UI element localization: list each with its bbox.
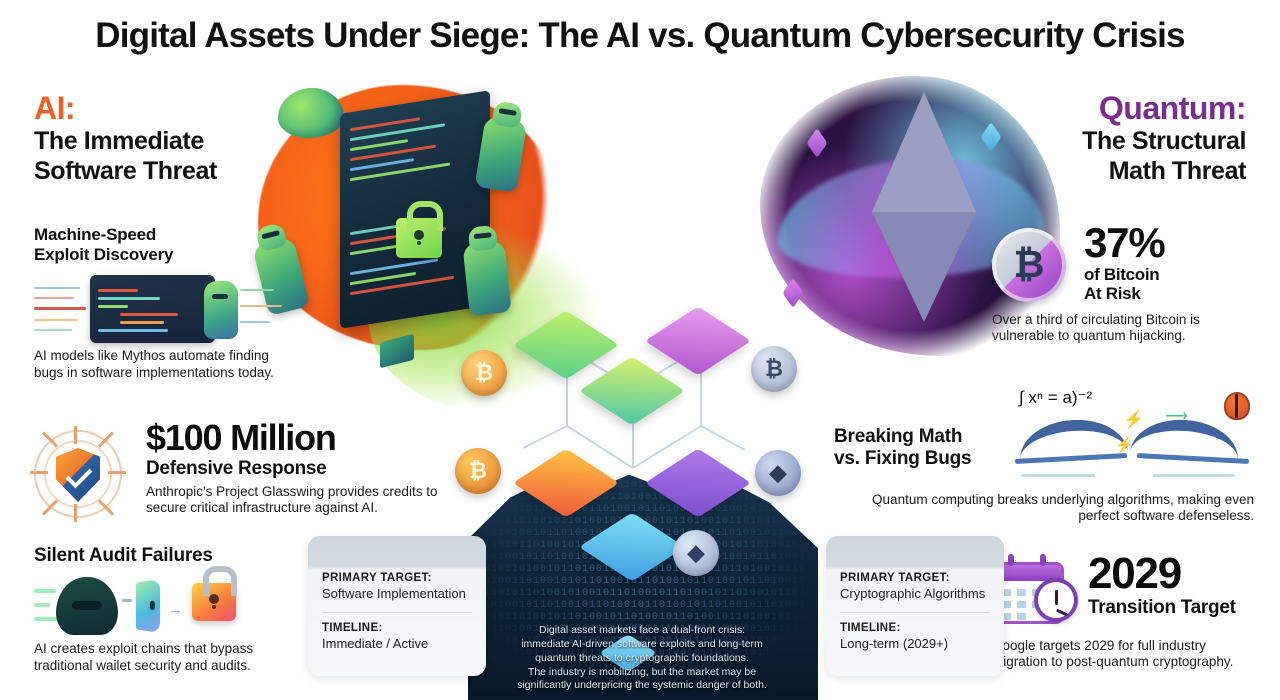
stat-label: Transition Target [1088, 598, 1236, 619]
block-defensive-response: $100 Million Defensive Response Anthropi… [30, 420, 450, 517]
stat-value: $100 Million [146, 420, 450, 456]
summary-line-2: immediate AI-driven software exploits an… [462, 638, 822, 652]
block-heading-line-1: Breaking Math [834, 426, 1004, 448]
block-transition-target: 2029 Transition Target Google targets 20… [992, 556, 1254, 671]
hacker-door-padlock-icon: → [34, 573, 289, 641]
right-column-heading: Quantum: The Structural Math Threat [1082, 92, 1246, 185]
timeline-label: TIMELINE: [840, 622, 990, 634]
shield-check-icon [30, 426, 126, 522]
code-window-robot-icon [34, 273, 289, 348]
stat-value: 2029 [1088, 552, 1236, 596]
block-silent-audit-failures: Silent Audit Failures → AI creates explo… [34, 545, 304, 674]
door-icon [136, 579, 160, 633]
timeline-label: TIMELINE: [322, 622, 472, 634]
summary-line-3: quantum threats to cryptographic foundat… [462, 652, 822, 666]
primary-target-label: PRIMARY TARGET: [840, 572, 990, 584]
quantum-kicker: Quantum: [1082, 92, 1246, 125]
summary-line-5: significantly underpricing the systemic … [462, 679, 822, 693]
block-body: AI models like Mythos automate finding b… [34, 348, 299, 381]
stat-label-line-2: At Risk [1084, 285, 1164, 304]
bitcoin-coin-stack: ₿ [455, 448, 501, 494]
primary-target-value: Software Implementation [322, 586, 472, 602]
block-heading: Silent Audit Failures [34, 545, 304, 567]
ethereum-diamond-bottom [872, 212, 976, 322]
padlock-icon [192, 583, 236, 621]
timeline-value: Long-term (2029+) [840, 636, 990, 652]
robot-icon [204, 281, 238, 339]
block-body: Google targets 2029 for full industry mi… [992, 638, 1254, 671]
hacker-icon [56, 577, 118, 635]
ai-heading-line-2: Software Threat [34, 157, 217, 185]
quantum-heading-line-1: The Structural [1082, 127, 1246, 155]
stat-label: Defensive Response [146, 459, 450, 480]
bug-icon [1224, 392, 1250, 420]
clock-icon [1034, 578, 1078, 622]
ethereum-coin: ◆ [755, 450, 801, 496]
bitcoin-coin-silver: ₿ [751, 346, 797, 392]
stat-label-line-1: of Bitcoin [1084, 266, 1164, 285]
ethereum-coin: ◆ [673, 530, 719, 576]
timeline-value: Immediate / Active [322, 636, 472, 652]
left-column-heading: AI: The Immediate Software Threat [34, 92, 217, 185]
summary-line-4: The industry is mobilizing, but the mark… [462, 666, 822, 680]
lightning-icon: ⚡ [1115, 436, 1134, 454]
block-machine-speed-exploit: Machine-Speed Exploit Discovery AI model… [34, 225, 299, 381]
quantum-heading-line-2: Math Threat [1082, 157, 1246, 185]
card-divider [322, 612, 472, 613]
primary-target-label: PRIMARY TARGET: [322, 572, 472, 584]
summary-line-1: Digital asset markets face a dual-front … [462, 624, 822, 638]
infographic-canvas: Digital Assets Under Siege: The AI vs. Q… [0, 0, 1280, 700]
summary-card-ai: PRIMARY TARGET: Software Implementation … [308, 536, 486, 676]
arrow-icon: ⟶ [1165, 406, 1188, 426]
bitcoin-coin: ₿ [461, 350, 507, 396]
broken-bridge-bug-icon: ∫ xⁿ = a)⁻² ⚡ ⚡ ⟶ [1019, 390, 1254, 485]
block-heading-line-2: Exploit Discovery [34, 245, 299, 265]
block-heading-line-2: vs. Fixing Bugs [834, 448, 1004, 470]
primary-target-value: Cryptographic Algorithms [840, 586, 990, 602]
block-bitcoin-at-risk: ₿ 37% of Bitcoin At Risk Over a third of… [992, 222, 1254, 345]
ai-kicker: AI: [34, 92, 217, 125]
ai-heading-line-1: The Immediate [34, 127, 217, 155]
block-body: AI creates exploit chains that bypass tr… [34, 641, 304, 674]
block-body: Over a third of circulating Bitcoin is v… [992, 312, 1254, 345]
arrow-icon: → [168, 601, 183, 618]
block-body: Anthropic's Project Glasswing provides c… [146, 484, 446, 517]
math-formula: ∫ xⁿ = a)⁻² [1019, 388, 1092, 408]
code-window [90, 275, 215, 343]
brain-icon [278, 88, 344, 138]
summary-text: Digital asset markets face a dual-front … [462, 624, 822, 693]
ethereum-diamond-top [872, 92, 976, 212]
summary-card-quantum: PRIMARY TARGET: Cryptographic Algorithms… [826, 536, 1004, 676]
block-body: Quantum computing breaks underlying algo… [834, 492, 1254, 525]
cracked-bitcoin-coin-icon: ₿ [992, 228, 1066, 302]
page-title: Digital Assets Under Siege: The AI vs. Q… [0, 16, 1280, 56]
lightning-icon: ⚡ [1123, 410, 1144, 430]
block-heading-line-1: Machine-Speed [34, 225, 299, 245]
block-breaking-math: Breaking Math vs. Fixing Bugs ∫ xⁿ = a)⁻… [834, 390, 1254, 525]
padlock-icon [396, 218, 442, 258]
card-divider [840, 612, 990, 613]
stat-value: 37% [1084, 222, 1164, 264]
